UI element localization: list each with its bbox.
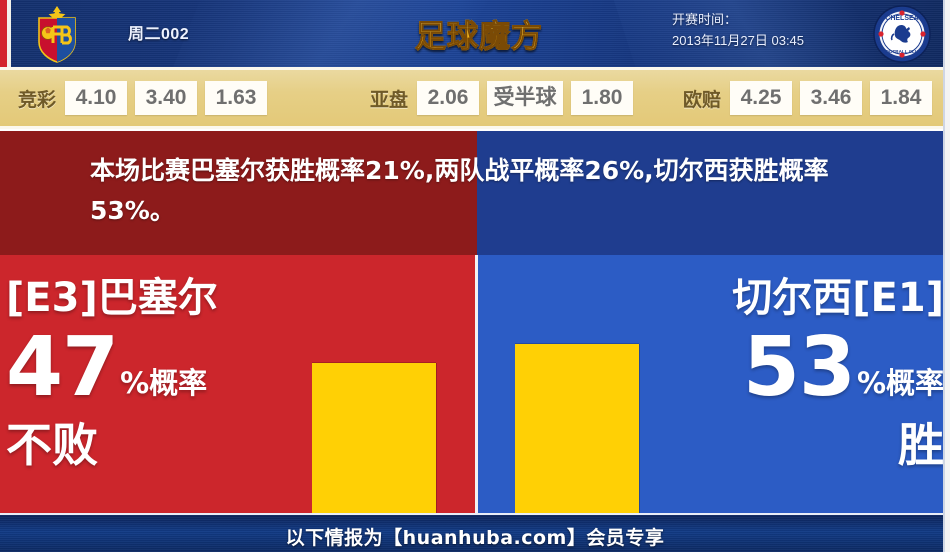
site-logo-text: 足球魔方 xyxy=(409,11,549,56)
header-left-red-strip xyxy=(0,0,7,67)
home-team-name: [E3]巴塞尔 xyxy=(6,275,306,321)
header-bar: 周二002 足球魔方 开赛时间： 2013年11月27日 03:45 CHELS… xyxy=(0,0,950,67)
home-team-block: [E3]巴塞尔 47%概率 不败 xyxy=(6,255,306,471)
frame-right-outer xyxy=(945,0,950,552)
odds-value-jingcai-away[interactable]: 1.63 xyxy=(205,81,267,115)
svg-text:FOOTBALL CLUB: FOOTBALL CLUB xyxy=(883,49,923,54)
site-logo: 足球魔方 xyxy=(409,9,549,57)
odds-group-jingcai: 竞彩 4.10 3.40 1.63 xyxy=(18,70,275,126)
away-probability-bar xyxy=(515,344,639,513)
home-probability-value: 47 xyxy=(6,320,118,415)
basel-crest-icon xyxy=(28,4,86,64)
odds-value-jingcai-home[interactable]: 4.10 xyxy=(65,81,127,115)
summary-banner: 本场比赛巴塞尔获胜概率21%,两队战平概率26%,切尔西获胜概率53%。 xyxy=(0,131,950,255)
match-number: 周二002 xyxy=(128,20,189,44)
away-team-block: 切尔西[E1] 53%概率 胜 xyxy=(644,255,944,471)
odds-label-asian: 亚盘 xyxy=(370,85,408,112)
match-probability-infographic: 周二002 足球魔方 开赛时间： 2013年11月27日 03:45 CHELS… xyxy=(0,0,950,552)
panel-divider xyxy=(475,255,478,513)
footer-text: 以下情报为【huanhuba.com】会员专享 xyxy=(0,523,950,550)
footer-bar: 以下情报为【huanhuba.com】会员专享 xyxy=(0,515,950,552)
away-team-name: 切尔西[E1] xyxy=(644,275,944,321)
odds-label-jingcai: 竞彩 xyxy=(18,85,56,112)
home-probability-unit: %概率 xyxy=(120,366,207,400)
home-result-label: 不败 xyxy=(6,419,306,471)
kickoff-info: 开赛时间： 2013年11月27日 03:45 xyxy=(672,9,804,51)
odds-group-european: 欧赔 4.25 3.46 1.84 xyxy=(683,70,940,126)
home-probability-bar xyxy=(312,363,436,513)
odds-value-asian-home[interactable]: 2.06 xyxy=(417,81,479,115)
kickoff-label: 开赛时间： xyxy=(672,9,804,30)
odds-value-jingcai-draw[interactable]: 3.40 xyxy=(135,81,197,115)
away-probability-row: 53%概率 xyxy=(644,325,944,411)
svg-text:CHELSEA: CHELSEA xyxy=(885,15,918,22)
odds-label-european: 欧赔 xyxy=(683,85,721,112)
probability-chart: [E3]巴塞尔 47%概率 不败 切尔西[E1] 53%概率 胜 xyxy=(0,255,950,513)
odds-group-asian: 亚盘 2.06 受半球 1.80 xyxy=(370,70,641,126)
home-probability-row: 47%概率 xyxy=(6,325,306,411)
away-probability-value: 53 xyxy=(743,320,855,415)
odds-value-european-away[interactable]: 1.84 xyxy=(870,81,932,115)
away-probability-unit: %概率 xyxy=(857,366,944,400)
summary-text: 本场比赛巴塞尔获胜概率21%,两队战平概率26%,切尔西获胜概率53%。 xyxy=(90,151,880,231)
odds-value-asian-handicap[interactable]: 受半球 xyxy=(487,81,563,115)
away-result-label: 胜 xyxy=(644,419,944,471)
header-left-white-gap xyxy=(7,0,11,67)
odds-value-asian-away[interactable]: 1.80 xyxy=(571,81,633,115)
odds-value-european-draw[interactable]: 3.46 xyxy=(800,81,862,115)
odds-value-european-home[interactable]: 4.25 xyxy=(730,81,792,115)
kickoff-time: 2013年11月27日 03:45 xyxy=(672,30,804,51)
odds-bar: 竞彩 4.10 3.40 1.63 亚盘 2.06 受半球 1.80 欧赔 4.… xyxy=(0,67,950,129)
chelsea-crest-icon: CHELSEA FOOTBALL CLUB xyxy=(872,4,932,64)
